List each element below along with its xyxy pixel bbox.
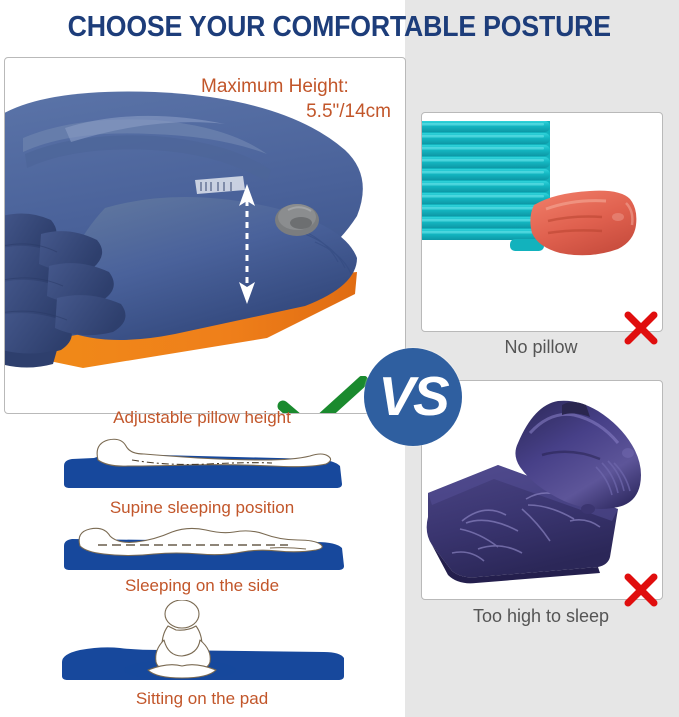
infographic-root: CHOOSE YOUR COMFORTABLE POSTURE [0, 0, 679, 717]
double-arrow-vertical-dashed-icon [238, 184, 256, 304]
page-title: CHOOSE YOUR COMFORTABLE POSTURE [68, 11, 611, 44]
teal-ribbed-mat-icon [422, 113, 662, 331]
max-height-line2: 5.5"/14cm [191, 99, 391, 124]
max-height-line1: Maximum Height: [191, 74, 391, 99]
sitting-on-pad-icon [58, 600, 348, 686]
supine-sleeping-icon [58, 432, 348, 494]
red-cross-icon [621, 570, 661, 610]
side-sleeping-icon [58, 520, 348, 574]
caption-sitting-on-the-pad: Sitting on the pad [0, 689, 404, 709]
valve-icon [275, 204, 319, 236]
header: CHOOSE YOUR COMFORTABLE POSTURE [0, 0, 679, 55]
no-pillow-panel [421, 112, 663, 332]
caption-adjustable-pillow-height: Adjustable pillow height [0, 408, 404, 428]
adjustable-pillow-panel: Maximum Height: 5.5"/14cm [4, 57, 406, 414]
vs-badge-icon: VS [364, 348, 462, 446]
max-height-annotation: Maximum Height: 5.5"/14cm [191, 74, 391, 124]
red-cross-icon [621, 308, 661, 348]
caption-supine-sleeping-position: Supine sleeping position [0, 498, 404, 518]
caption-sleeping-on-the-side: Sleeping on the side [0, 576, 404, 596]
red-inflatable-pillow-icon [530, 191, 636, 256]
vs-badge-label: VS [378, 369, 447, 424]
